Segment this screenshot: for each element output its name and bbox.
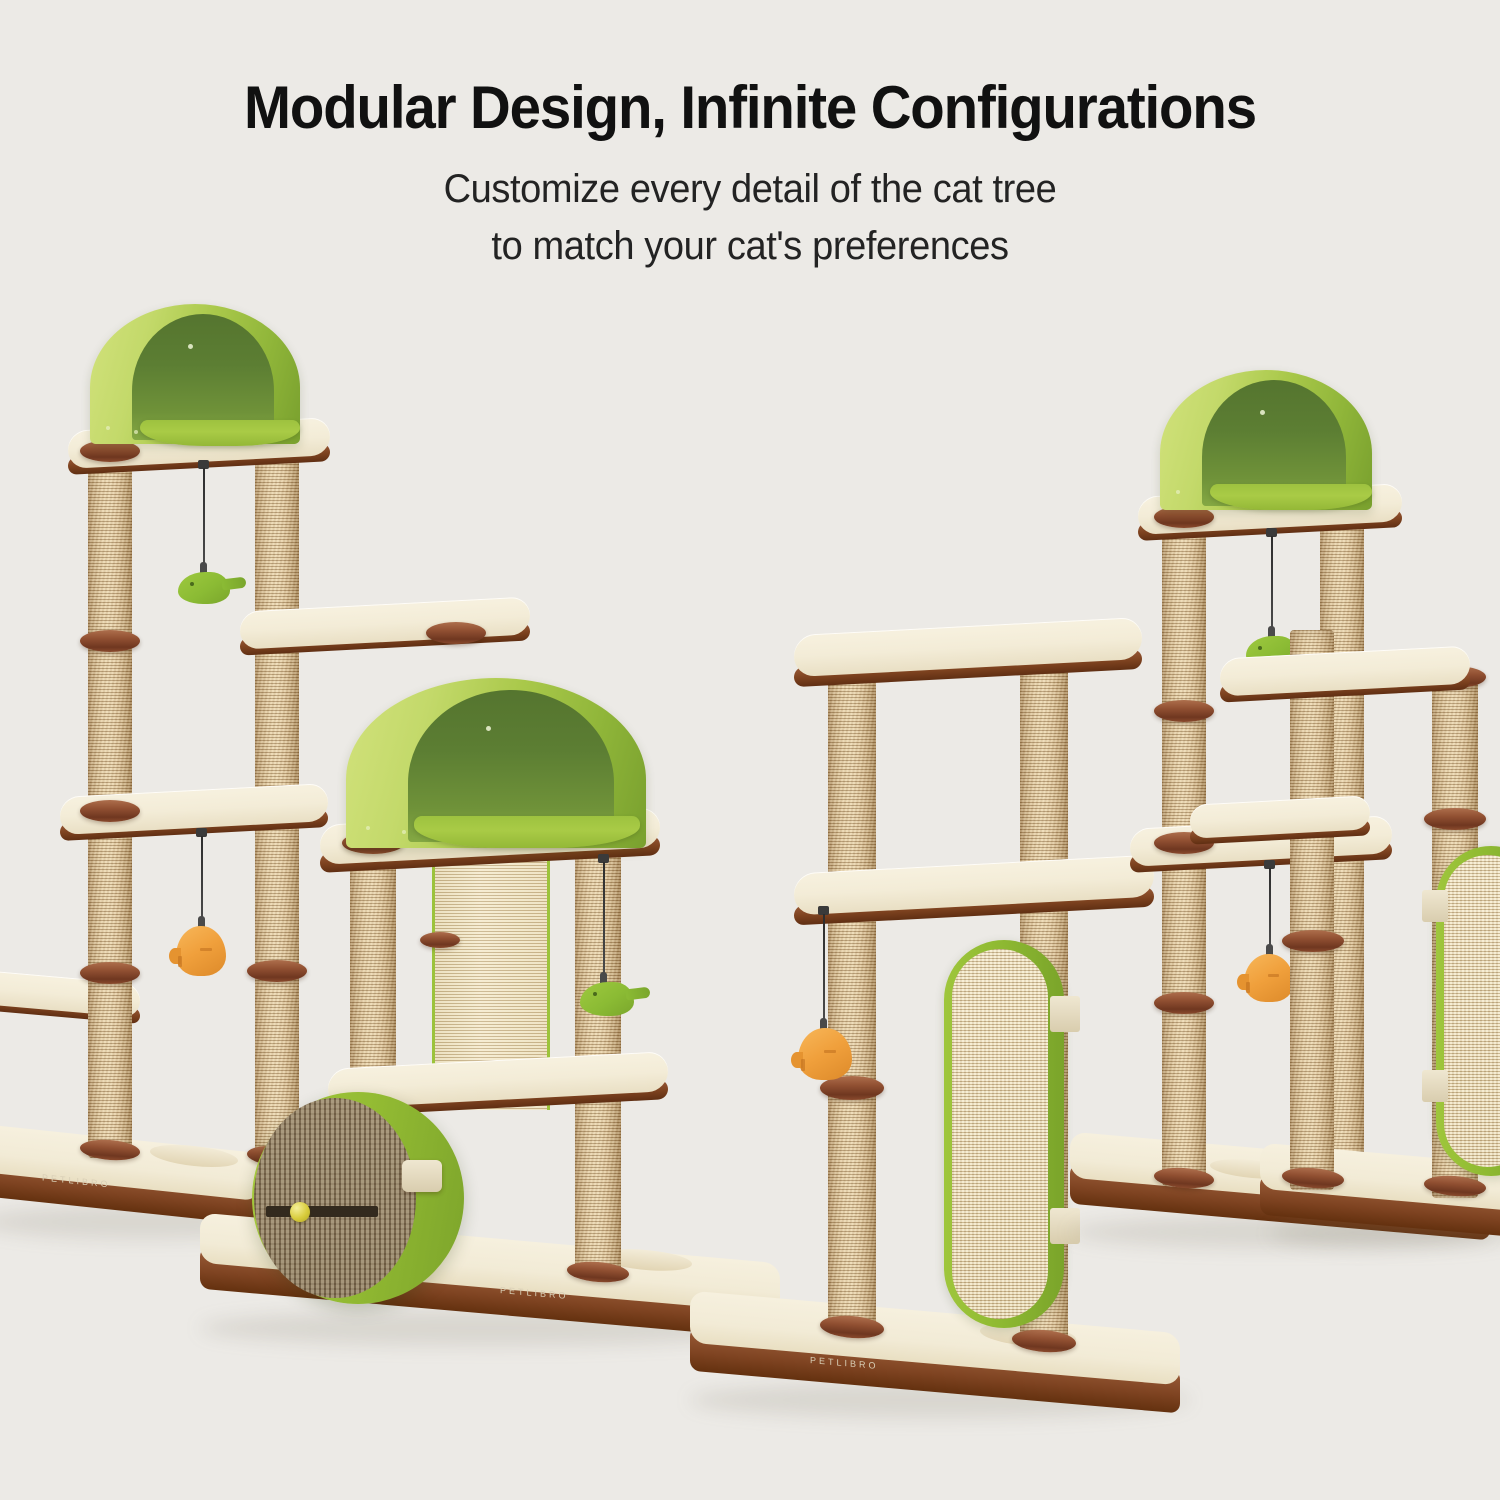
tree-4-hood-dot	[1260, 410, 1265, 415]
tree-5-collar-right-mid	[1424, 808, 1486, 830]
tree-5-collar-left-mid	[1282, 930, 1344, 952]
tree-3-oval-strap-top	[1050, 996, 1080, 1032]
tree-2-hood-condo[interactable]	[346, 678, 646, 848]
tree-3-fish-mark-a	[824, 1050, 836, 1053]
cat-tree-2[interactable]: PETLIBRO	[180, 660, 740, 1340]
tree-3-fish-toy[interactable]	[798, 1028, 852, 1080]
product-scene: Modular Design, Infinite Configurations …	[0, 0, 1500, 1500]
tree-2-hood-rivet-a	[366, 826, 370, 830]
tree-3-post-left[interactable]	[828, 658, 876, 1334]
tree-2-bird-string	[603, 862, 605, 974]
tree-4-fish-mark-b	[1246, 982, 1250, 993]
tree-3-oval-strap-bottom	[1050, 1208, 1080, 1244]
tree-1-collar-left-low	[80, 962, 140, 984]
tree-2-pad-bracket	[420, 932, 460, 948]
tree-1-hood-dot	[188, 344, 193, 349]
tree-5-oval-strap-bottom	[1422, 1070, 1448, 1102]
tree-3-fish-string	[823, 914, 825, 1020]
tree-4-hood-rivet-a	[1176, 490, 1180, 494]
tree-4-collar-left-mid	[1154, 700, 1214, 722]
tree-2-hood-dot	[486, 726, 491, 731]
tree-5-post-left[interactable]	[1290, 630, 1334, 1190]
tree-1-hood-rivet-a	[106, 426, 110, 430]
page-subtitle: Customize every detail of the cat tree t…	[38, 139, 1463, 275]
tree-2-disc-scratcher[interactable]	[252, 1092, 464, 1304]
tree-1-bird-string	[203, 468, 205, 564]
tree-1-collar-left-mid	[80, 630, 140, 652]
tree-2-bird-toy[interactable]	[580, 982, 634, 1016]
tree-2-disc-bell-slot	[266, 1206, 378, 1217]
tree-2-disc-cardboard	[254, 1098, 416, 1298]
tree-2-disc-bracket	[402, 1160, 442, 1192]
tree-3-oval-sisal-face	[952, 949, 1048, 1319]
subtitle-line-1: Customize every detail of the cat tree	[444, 167, 1057, 211]
tree-4-collar-left-low	[1154, 992, 1214, 1014]
tree-2-disc-bell[interactable]	[290, 1202, 310, 1222]
subtitle-line-2: to match your cat's preferences	[491, 224, 1008, 268]
tree-5-oval-strap-top	[1422, 890, 1448, 922]
tree-5-oval-sisal-face	[1444, 855, 1500, 1167]
cat-tree-5-cropped[interactable]	[1270, 630, 1500, 1250]
tree-1b-collar	[426, 622, 486, 644]
tree-4-hood-condo[interactable]	[1160, 370, 1372, 510]
tree-3-fish-body	[798, 1028, 852, 1080]
page-title: Modular Design, Infinite Configurations	[45, 0, 1455, 139]
header-block: Modular Design, Infinite Configurations …	[0, 0, 1500, 275]
tree-3-fish-mark-b	[801, 1059, 805, 1071]
tree-1-collar-left-mid2	[80, 800, 140, 822]
tree-1-hood-rivet-b	[134, 430, 138, 434]
tree-1-bird-toy[interactable]	[178, 572, 230, 604]
tree-3-oval-sisal-panel[interactable]	[944, 940, 1064, 1328]
tree-1-hood-condo[interactable]	[90, 304, 300, 444]
tree-2-hood-rivet-b	[402, 830, 406, 834]
tree-2-bird-tail	[625, 987, 650, 1001]
tree-4-bird-string	[1271, 536, 1273, 628]
tree-5-oval-sisal-panel[interactable]	[1436, 846, 1500, 1176]
